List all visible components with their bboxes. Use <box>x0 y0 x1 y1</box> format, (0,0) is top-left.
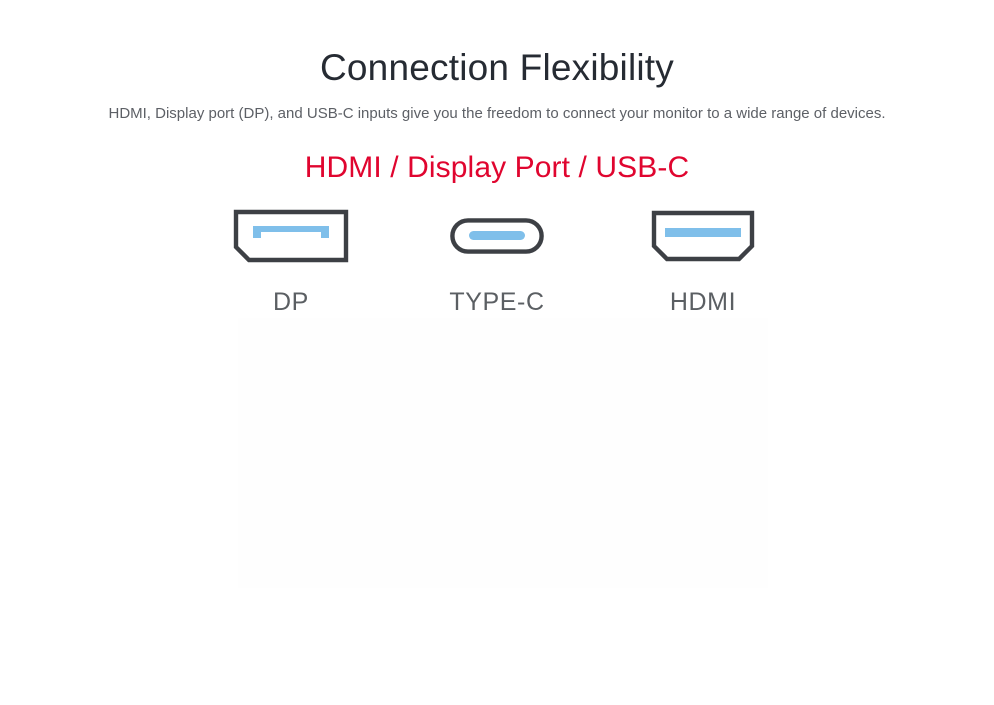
hero-section: Connection Flexibility HDMI, Display por… <box>0 0 994 188</box>
connector-art-type-c <box>450 205 544 267</box>
connector-item-type-c: TYPE-C <box>394 205 600 316</box>
connector-art-dp <box>233 205 349 267</box>
background-wash <box>238 318 768 588</box>
connection-flexibility-page: Connection Flexibility HDMI, Display por… <box>0 0 994 705</box>
connector-item-hdmi: HDMI <box>600 205 806 316</box>
page-subtitle: HDMI, Display port (DP), and USB-C input… <box>0 92 994 125</box>
accent-heading: HDMI / Display Port / USB-C <box>0 125 994 188</box>
usbc-connector-icon <box>450 218 544 254</box>
connector-label-type-c: TYPE-C <box>449 288 544 316</box>
connector-label-hdmi: HDMI <box>670 288 736 316</box>
hdmi-connector-icon <box>651 210 755 262</box>
connector-list: DP TYPE-C HDMI <box>0 205 994 316</box>
displayport-connector-icon <box>233 209 349 263</box>
connector-item-dp: DP <box>188 205 394 316</box>
connector-art-hdmi <box>651 205 755 267</box>
connector-label-dp: DP <box>273 288 309 316</box>
page-title: Connection Flexibility <box>0 0 994 92</box>
